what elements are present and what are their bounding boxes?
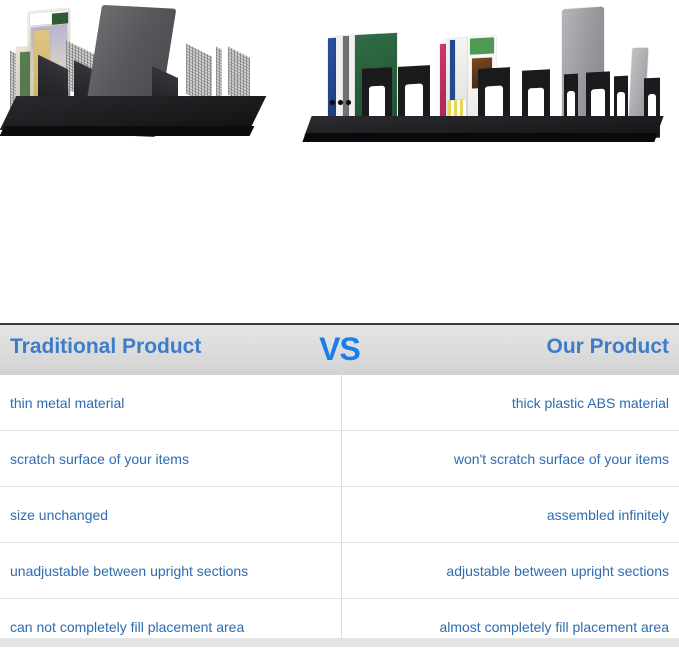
table-row: thin metal material thick plastic ABS ma… <box>0 375 679 431</box>
comparison-table: Traditional Product VS Our Product thin … <box>0 323 679 654</box>
comparison-rows: thin metal material thick plastic ABS ma… <box>0 375 679 654</box>
cell-ours: won't scratch surface of your items <box>340 431 679 486</box>
book-logo-block <box>52 12 68 24</box>
cell-traditional: thin metal material <box>0 375 340 430</box>
cell-traditional: scratch surface of your items <box>0 431 340 486</box>
cell-traditional: size unchanged <box>0 487 340 542</box>
table-row: scratch surface of your items won't scra… <box>0 431 679 487</box>
callout-area: Scratch Surface 02. Thick ABS Material <box>0 180 679 323</box>
binder-hole <box>338 100 343 105</box>
organizer-base-front <box>0 126 254 136</box>
organizer-base-top <box>0 96 266 130</box>
cell-ours: thick plastic ABS material <box>340 375 679 430</box>
column-divider <box>341 369 342 645</box>
cell-ours: assembled infinitely <box>340 487 679 542</box>
photo-our-product <box>300 0 679 180</box>
comparison-header: Traditional Product VS Our Product <box>0 325 679 375</box>
cell-traditional: unadjustable between upright sections <box>0 543 340 598</box>
book-blue-stripe <box>450 40 455 100</box>
mesh-divider <box>216 46 222 103</box>
cell-ours: adjustable between upright sections <box>340 543 679 598</box>
organizer-base-front <box>302 133 657 142</box>
binder-hole <box>346 100 351 105</box>
table-row: unadjustable between upright sections ad… <box>0 543 679 599</box>
table-footer-band <box>0 638 679 647</box>
photo-traditional-product <box>0 0 300 180</box>
binder-hole <box>330 100 335 105</box>
product-photo-area <box>0 0 679 180</box>
magazine-header-band <box>470 37 494 54</box>
column-header-ours: Our Product <box>546 335 669 359</box>
table-row: size unchanged assembled infinitely <box>0 487 679 543</box>
